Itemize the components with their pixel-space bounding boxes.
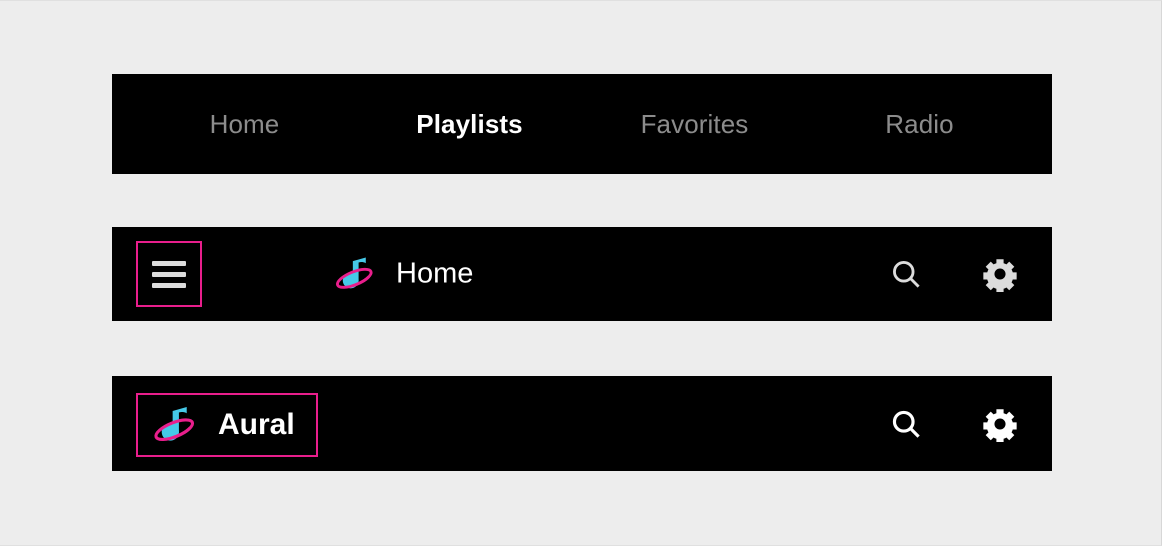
menu-button[interactable] [136, 241, 202, 307]
aural-music-note-logo-icon [150, 400, 200, 450]
search-button[interactable] [876, 394, 936, 454]
search-button[interactable] [876, 244, 936, 304]
toolbar-title: Home [396, 258, 473, 291]
brand-button[interactable]: Aural [136, 393, 318, 457]
app-toolbar: Home [112, 227, 1052, 321]
brand-toolbar-actions [876, 376, 1030, 471]
tab-radio[interactable]: Radio [807, 109, 1032, 140]
hamburger-menu-icon [152, 261, 186, 288]
settings-button[interactable] [970, 394, 1030, 454]
tab-favorites[interactable]: Favorites [582, 109, 807, 140]
tab-playlists[interactable]: Playlists [357, 109, 582, 140]
top-navigation-bar: Home Playlists Favorites Radio [112, 74, 1052, 174]
toolbar-actions [876, 227, 1030, 321]
brand-toolbar: Aural [112, 376, 1052, 471]
settings-button[interactable] [970, 244, 1030, 304]
gear-icon [982, 256, 1018, 292]
tab-home[interactable]: Home [132, 109, 357, 140]
search-icon [888, 256, 924, 292]
brand-title: Aural [218, 408, 295, 442]
aural-music-note-logo-icon [332, 251, 378, 297]
search-icon [888, 406, 924, 442]
gear-icon [982, 406, 1018, 442]
